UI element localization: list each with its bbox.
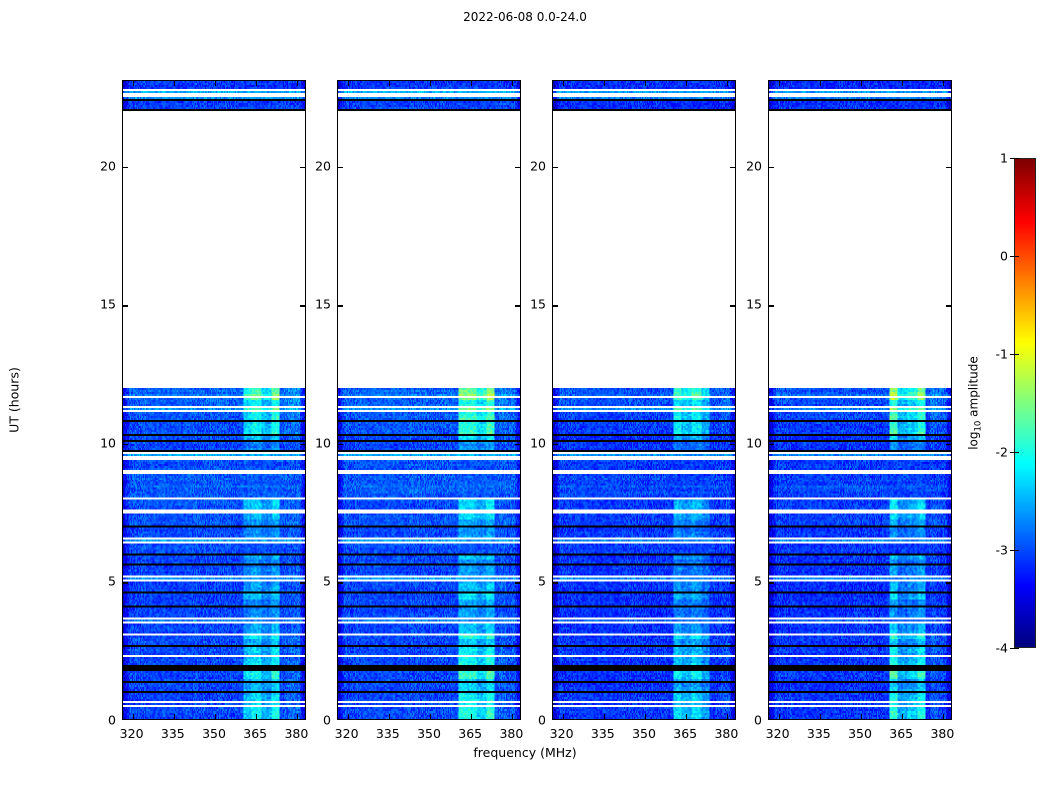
- y-tick-label: 10: [726, 435, 762, 450]
- y-tick-mark: [769, 167, 774, 168]
- y-tick-label: 20: [510, 158, 546, 173]
- x-tick-label: 320: [766, 726, 790, 741]
- spectrogram-panel-xx: XX, V7*V14=EA24*EA17: [122, 80, 306, 720]
- x-tick-mark: [297, 81, 298, 86]
- y-tick-label: 15: [510, 297, 546, 312]
- y-tick-mark: [553, 305, 558, 306]
- x-tick-mark: [902, 81, 903, 86]
- x-tick-mark: [215, 714, 216, 719]
- x-tick-label: 335: [376, 726, 400, 741]
- y-tick-label: 0: [726, 713, 762, 728]
- y-tick-label: 10: [80, 435, 116, 450]
- x-tick-label: 380: [499, 726, 523, 741]
- x-tick-mark: [174, 714, 175, 719]
- x-tick-mark: [471, 714, 472, 719]
- figure-canvas: 2022-06-08 0.0-24.0 05101520320335350365…: [0, 0, 1050, 800]
- x-tick-mark: [686, 714, 687, 719]
- y-tick-mark: [946, 444, 951, 445]
- y-tick-label: 5: [80, 574, 116, 589]
- y-tick-label: 0: [510, 713, 546, 728]
- colorbar-axis-label: log10 amplitude: [966, 356, 983, 450]
- x-tick-mark: [820, 81, 821, 86]
- figure-suptitle: 2022-06-08 0.0-24.0: [0, 10, 1050, 24]
- y-tick-label: 10: [510, 435, 546, 450]
- x-tick-mark: [902, 714, 903, 719]
- colorbar-tick-mark-inner: [1014, 256, 1019, 257]
- y-tick-mark: [338, 582, 343, 583]
- x-tick-label: 350: [202, 726, 226, 741]
- x-tick-mark: [645, 81, 646, 86]
- y-tick-label: 20: [726, 158, 762, 173]
- spectrogram-image: [769, 81, 951, 719]
- y-tick-mark: [338, 444, 343, 445]
- x-tick-label: 320: [335, 726, 359, 741]
- x-tick-label: 380: [714, 726, 738, 741]
- x-tick-label: 365: [673, 726, 697, 741]
- x-tick-mark: [861, 714, 862, 719]
- x-tick-label: 380: [930, 726, 954, 741]
- colorbar-gradient: [1014, 158, 1036, 648]
- colorbar-tick-label: 0: [1000, 249, 1008, 264]
- x-tick-mark: [256, 714, 257, 719]
- x-tick-label: 365: [889, 726, 913, 741]
- spectrogram-panel-yx: YX, V7*V14=EA24*EA17: [768, 80, 952, 720]
- y-tick-mark: [123, 444, 128, 445]
- y-tick-mark: [553, 582, 558, 583]
- spectrogram-image: [553, 81, 735, 719]
- y-tick-mark: [769, 582, 774, 583]
- colorbar-tick-label: -4: [996, 641, 1008, 656]
- y-tick-label: 20: [295, 158, 331, 173]
- colorbar-label-suffix: amplitude: [966, 356, 980, 420]
- x-tick-mark: [645, 714, 646, 719]
- x-tick-label: 365: [243, 726, 267, 741]
- x-tick-label: 350: [848, 726, 872, 741]
- x-tick-label: 335: [807, 726, 831, 741]
- y-tick-mark: [553, 167, 558, 168]
- x-tick-mark: [779, 81, 780, 86]
- x-tick-label: 350: [632, 726, 656, 741]
- y-tick-label: 5: [510, 574, 546, 589]
- x-tick-mark: [348, 714, 349, 719]
- x-tick-mark: [389, 714, 390, 719]
- x-axis-label: frequency (MHz): [0, 745, 1050, 760]
- y-tick-label: 15: [295, 297, 331, 312]
- x-tick-mark: [348, 81, 349, 86]
- colorbar-tick-mark-inner: [1014, 550, 1019, 551]
- spectrogram-panel-yy: YY, V7*V14=EA24*EA17: [337, 80, 521, 720]
- x-tick-mark: [943, 81, 944, 86]
- y-tick-mark: [123, 167, 128, 168]
- y-tick-label: 15: [80, 297, 116, 312]
- y-tick-mark: [553, 444, 558, 445]
- y-tick-label: 5: [726, 574, 762, 589]
- y-tick-mark: [946, 582, 951, 583]
- x-tick-mark: [604, 714, 605, 719]
- x-tick-mark: [604, 81, 605, 86]
- spectrogram-image: [123, 81, 305, 719]
- colorbar-tick-label: -1: [996, 347, 1008, 362]
- x-tick-label: 335: [591, 726, 615, 741]
- y-tick-mark: [338, 305, 343, 306]
- x-tick-mark: [779, 714, 780, 719]
- colorbar-label-subscript: 10: [974, 421, 984, 432]
- y-tick-mark: [946, 167, 951, 168]
- x-tick-label: 365: [458, 726, 482, 741]
- x-tick-mark: [215, 81, 216, 86]
- x-tick-mark: [820, 714, 821, 719]
- y-tick-mark: [769, 444, 774, 445]
- x-tick-mark: [943, 714, 944, 719]
- spectrogram-panel-xy: XY, V7*V14=EA24*EA17: [552, 80, 736, 720]
- y-tick-label: 0: [80, 713, 116, 728]
- colorbar-tick-label: 1: [1000, 151, 1008, 166]
- x-tick-label: 350: [417, 726, 441, 741]
- x-tick-mark: [133, 81, 134, 86]
- x-tick-mark: [512, 81, 513, 86]
- colorbar-label-prefix: log: [966, 431, 980, 449]
- colorbar-tick-mark-inner: [1014, 648, 1019, 649]
- y-tick-mark: [946, 305, 951, 306]
- x-tick-mark: [727, 81, 728, 86]
- x-tick-mark: [563, 714, 564, 719]
- x-tick-mark: [430, 81, 431, 86]
- y-tick-label: 5: [295, 574, 331, 589]
- colorbar-tick-label: -3: [996, 543, 1008, 558]
- colorbar-tick-label: -2: [996, 445, 1008, 460]
- y-tick-label: 10: [295, 435, 331, 450]
- y-axis-label: UT (hours): [7, 367, 22, 433]
- y-tick-label: 0: [295, 713, 331, 728]
- x-tick-mark: [256, 81, 257, 86]
- y-tick-mark: [338, 167, 343, 168]
- y-tick-label: 15: [726, 297, 762, 312]
- x-tick-label: 335: [161, 726, 185, 741]
- x-tick-label: 320: [120, 726, 144, 741]
- x-tick-mark: [430, 714, 431, 719]
- y-tick-mark: [769, 305, 774, 306]
- x-tick-mark: [563, 81, 564, 86]
- x-tick-mark: [471, 81, 472, 86]
- x-tick-label: 320: [550, 726, 574, 741]
- x-tick-label: 380: [284, 726, 308, 741]
- y-tick-mark: [123, 305, 128, 306]
- y-tick-label: 20: [80, 158, 116, 173]
- x-tick-mark: [861, 81, 862, 86]
- colorbar-tick-mark-inner: [1014, 158, 1019, 159]
- y-tick-mark: [123, 582, 128, 583]
- colorbar-tick-mark-inner: [1014, 354, 1019, 355]
- x-tick-mark: [686, 81, 687, 86]
- x-tick-mark: [133, 714, 134, 719]
- spectrogram-image: [338, 81, 520, 719]
- x-tick-mark: [389, 81, 390, 86]
- colorbar: 10-1-2-3-4: [1014, 158, 1036, 648]
- x-tick-mark: [174, 81, 175, 86]
- colorbar-tick-mark-inner: [1014, 452, 1019, 453]
